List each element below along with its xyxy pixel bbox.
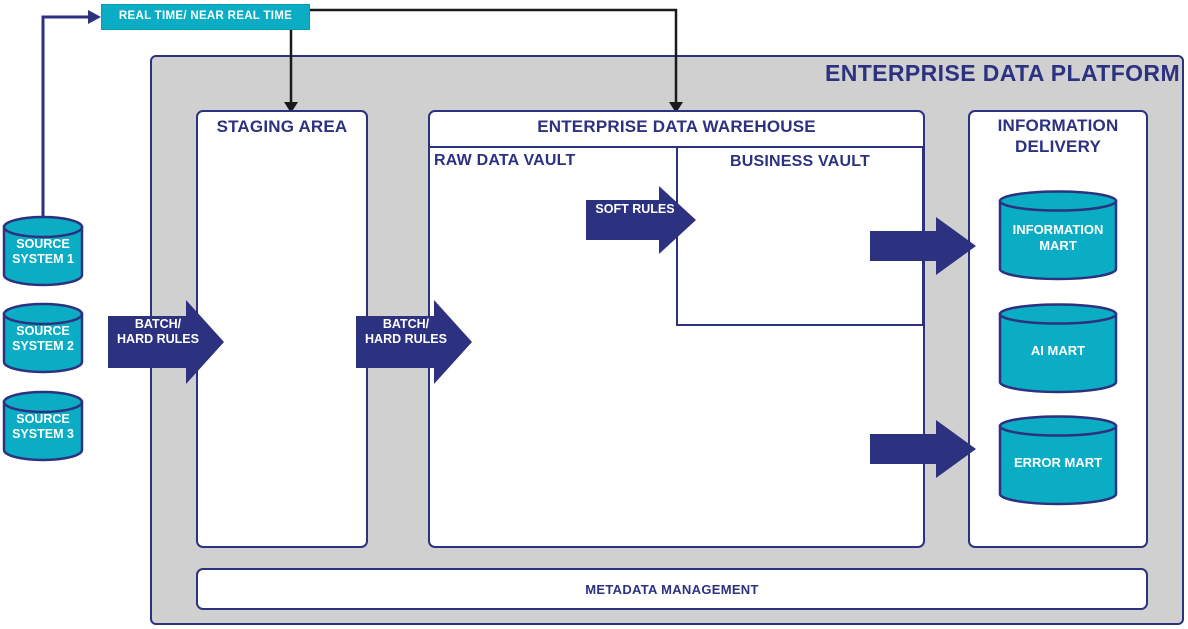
source-system-3-cylinder: SOURCE SYSTEM 3 [2, 390, 84, 462]
batch-hard-rules-arrow-2: BATCH/ HARD RULES [352, 298, 474, 386]
source-system-1-cylinder: SOURCE SYSTEM 1 [2, 215, 84, 287]
ai-mart-label: AI MART [998, 343, 1118, 359]
enterprise-data-platform-diagram: ENTERPRISE DATA PLATFORM REAL TIME/ NEAR… [0, 0, 1188, 629]
edw-to-information-mart-arrow [868, 215, 978, 277]
metadata-management-label: METADATA MANAGEMENT [196, 582, 1148, 597]
soft-rules-arrow: SOFT RULES [583, 184, 699, 256]
real-time-banner: REAL TIME/ NEAR REAL TIME [101, 4, 310, 30]
batch-hard-rules-arrow-1: BATCH/ HARD RULES [104, 298, 226, 386]
source-system-2-cylinder: SOURCE SYSTEM 2 [2, 302, 84, 374]
platform-title: ENTERPRISE DATA PLATFORM [825, 60, 1180, 87]
real-time-banner-label: REAL TIME/ NEAR REAL TIME [119, 10, 292, 24]
information-mart-label: INFORMATION MART [998, 222, 1118, 253]
source-system-2-label: SOURCE SYSTEM 2 [2, 324, 84, 354]
soft-rules-arrow-label: SOFT RULES [589, 202, 681, 217]
information-delivery-title: INFORMATION DELIVERY [968, 115, 1148, 158]
batch-hard-rules-arrow-1-label: BATCH/ HARD RULES [110, 317, 206, 347]
ai-mart-cylinder: AI MART [998, 303, 1118, 395]
edw-to-error-mart-arrow [868, 418, 978, 480]
source-system-3-label: SOURCE SYSTEM 3 [2, 412, 84, 442]
error-mart-cylinder: ERROR MART [998, 415, 1118, 507]
staging-area-title: STAGING AREA [196, 117, 368, 137]
raw-data-vault-title: RAW DATA VAULT [434, 152, 674, 170]
enterprise-data-warehouse-title: ENTERPRISE DATA WAREHOUSE [428, 117, 925, 137]
batch-hard-rules-arrow-2-label: BATCH/ HARD RULES [358, 317, 454, 347]
error-mart-label: ERROR MART [998, 455, 1118, 471]
business-vault-title: BUSINESS VAULT [676, 153, 924, 171]
source-system-1-label: SOURCE SYSTEM 1 [2, 237, 84, 267]
information-mart-cylinder: INFORMATION MART [998, 190, 1118, 282]
